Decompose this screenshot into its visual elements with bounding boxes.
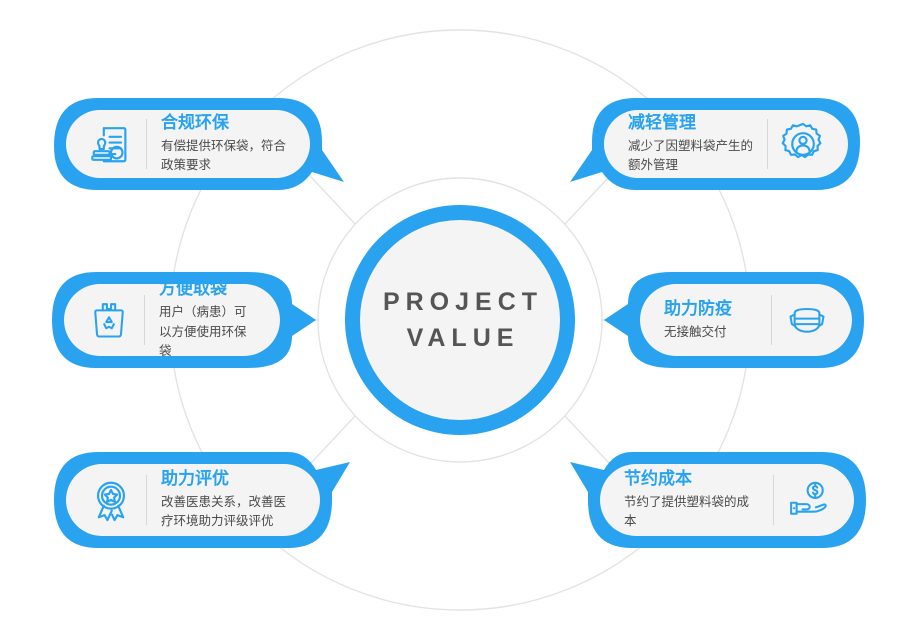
card-description: 有偿提供环保袋，符合政策要求 <box>161 137 286 176</box>
card-title: 节约成本 <box>624 468 759 491</box>
gear-person-icon <box>772 113 834 175</box>
card-text: 减轻管理 减少了因塑料袋产生的额外管理 <box>618 112 763 176</box>
card-description: 减少了因塑料袋产生的额外管理 <box>628 137 753 176</box>
hub-title-line-1: PROJECT <box>377 284 543 320</box>
card-description: 节约了提供塑料袋的成本 <box>624 493 759 532</box>
card-rating-excellence[interactable]: 助力评优 改善医患关系，改善医疗环境助力评级评优 <box>66 464 320 536</box>
card-divider <box>773 475 774 525</box>
card-title: 助力防疫 <box>664 298 757 321</box>
card-description: 用户（病患）可以方便使用环保袋 <box>159 303 256 361</box>
center-hub: PROJECT VALUE <box>345 205 575 435</box>
card-description: 改善医患关系，改善医疗环境助力评级评优 <box>161 493 296 532</box>
card-title: 减轻管理 <box>628 112 753 135</box>
diagram-canvas: PROJECT VALUE 合规环保 有偿提供环保袋，符合政策要求 <box>0 0 913 634</box>
card-title: 方便取袋 <box>159 278 256 301</box>
card-title: 助力评优 <box>161 468 296 491</box>
hand-money-icon <box>778 469 840 531</box>
card-cost-saving[interactable]: 节约成本 节约了提供塑料袋的成本 <box>600 464 854 536</box>
card-title: 合规环保 <box>161 112 286 135</box>
hub-title-line-2: VALUE <box>401 320 520 356</box>
stamp-document-icon <box>80 113 142 175</box>
card-text: 助力防疫 无接触交付 <box>654 298 767 342</box>
recycle-bag-icon <box>78 289 140 351</box>
card-text: 方便取袋 用户（病患）可以方便使用环保袋 <box>149 278 266 361</box>
card-compliance[interactable]: 合规环保 有偿提供环保袋，符合政策要求 <box>66 110 310 178</box>
card-divider <box>144 295 145 345</box>
card-text: 助力评优 改善医患关系，改善医疗环境助力评级评优 <box>151 468 306 532</box>
card-divider <box>767 119 768 169</box>
card-divider <box>771 295 772 345</box>
card-convenient-bag[interactable]: 方便取袋 用户（病患）可以方便使用环保袋 <box>64 284 280 356</box>
face-mask-icon <box>776 289 838 351</box>
card-reduce-management[interactable]: 减轻管理 减少了因塑料袋产生的额外管理 <box>604 110 848 178</box>
card-epidemic-prevention[interactable]: 助力防疫 无接触交付 <box>640 284 852 356</box>
card-text: 合规环保 有偿提供环保袋，符合政策要求 <box>151 112 296 176</box>
card-divider <box>146 119 147 169</box>
card-divider <box>146 475 147 525</box>
award-medal-icon <box>80 469 142 531</box>
card-description: 无接触交付 <box>664 323 757 342</box>
card-text: 节约成本 节约了提供塑料袋的成本 <box>614 468 769 532</box>
